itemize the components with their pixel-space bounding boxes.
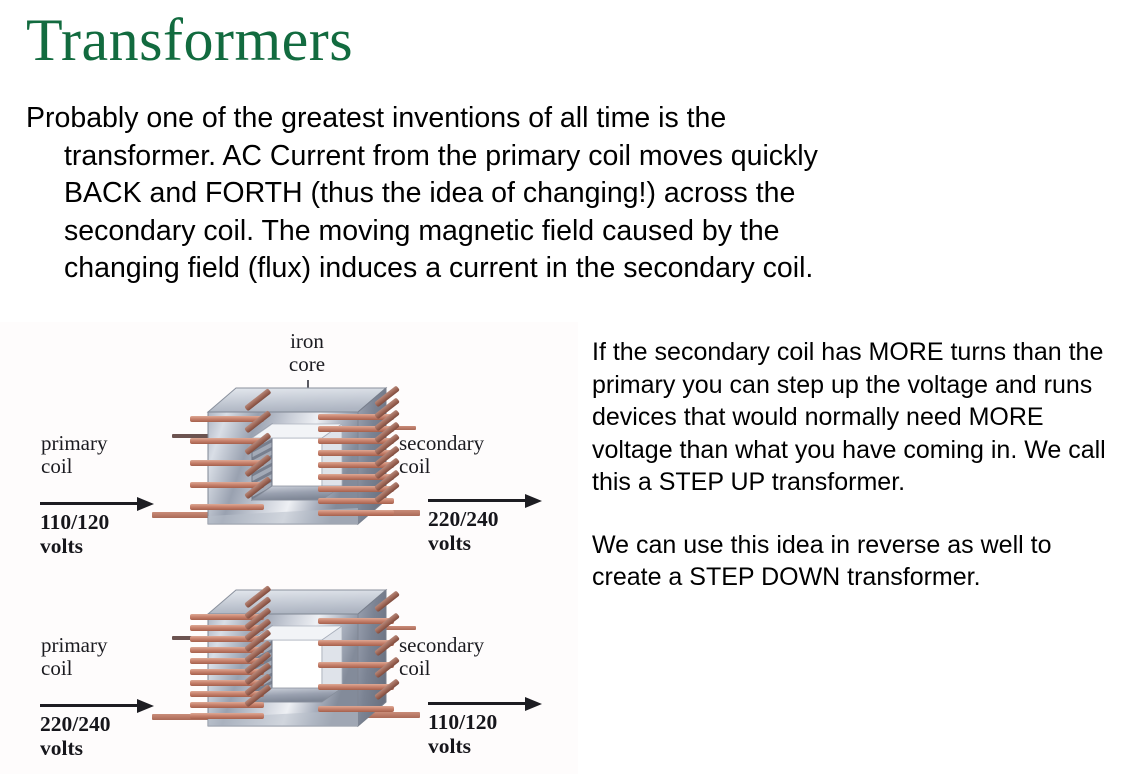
output-voltage-arrow-2 — [428, 697, 542, 711]
secondary-coil-label-line1: secondary — [399, 431, 484, 455]
iron-core-3d — [200, 382, 390, 537]
primary-coil-winding — [190, 416, 264, 506]
secondary-coil-label-2-line2: coil — [399, 656, 431, 680]
primary-coil-label-2-line1: primary — [41, 633, 107, 657]
page-title: Transformers — [26, 10, 353, 70]
transformer-diagram-image: iron core — [0, 322, 578, 774]
step-up-description: If the secondary coil has MORE turns tha… — [592, 336, 1116, 499]
input-voltage-label-2: 220/240 volts — [40, 712, 110, 760]
secondary-coil-label-2-line1: secondary — [399, 633, 484, 657]
primary-coil-label-2-line2: coil — [41, 656, 73, 680]
secondary-coil-winding-2 — [318, 618, 394, 710]
intro-line-4: secondary coil. The moving magnetic fiel… — [26, 213, 1006, 251]
intro-line-3: BACK and FORTH (thus the idea of changin… — [26, 175, 1006, 213]
intro-paragraph: Probably one of the greatest inventions … — [26, 100, 1006, 288]
iron-core-label: iron core — [272, 330, 342, 376]
iron-core-label-line1: iron — [290, 329, 324, 353]
input-voltage-arrow-2 — [40, 699, 154, 713]
output-voltage-label-2: 110/120 volts — [428, 710, 497, 758]
iron-core-label-line2: core — [289, 352, 325, 376]
step-down-description: We can use this idea in reverse as well … — [592, 529, 1116, 594]
step-down-transformer-figure: primary coil secondary coil 220/240 volt… — [0, 548, 578, 774]
primary-coil-label: primary coil — [41, 432, 107, 478]
output-voltage-value: 220/240 — [428, 507, 498, 531]
primary-coil-label-line1: primary — [41, 431, 107, 455]
secondary-coil-label-line2: coil — [399, 454, 431, 478]
input-voltage-arrow — [40, 497, 154, 511]
intro-line-5: changing field (flux) induces a current … — [26, 250, 1006, 288]
input-voltage-value: 110/120 — [40, 510, 109, 534]
secondary-coil-label: secondary coil — [399, 432, 484, 478]
primary-coil-label-line2: coil — [41, 454, 73, 478]
input-voltage-value-2: 220/240 — [40, 712, 110, 736]
right-text-column: If the secondary coil has MORE turns tha… — [592, 336, 1116, 594]
primary-coil-label-2: primary coil — [41, 634, 107, 680]
input-voltage-unit-2: volts — [40, 736, 83, 760]
output-voltage-arrow — [428, 494, 542, 508]
intro-line-2: transformer. AC Current from the primary… — [26, 138, 1006, 176]
secondary-coil-label-2: secondary coil — [399, 634, 484, 680]
iron-core-3d-2 — [200, 584, 390, 739]
output-voltage-unit-2: volts — [428, 734, 471, 758]
step-up-transformer-figure: iron core — [0, 322, 578, 548]
intro-line-1: Probably one of the greatest inventions … — [26, 100, 1006, 138]
primary-coil-winding-2 — [190, 614, 264, 714]
secondary-coil-winding — [318, 414, 394, 512]
output-voltage-value-2: 110/120 — [428, 710, 497, 734]
